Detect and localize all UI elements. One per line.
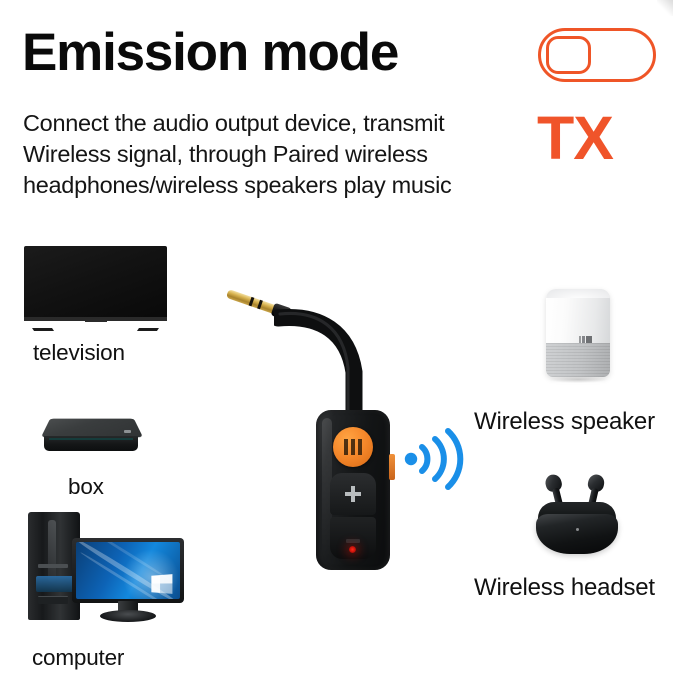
volume-up-button[interactable] <box>330 473 376 515</box>
wireless-earbuds-icon <box>524 472 630 562</box>
page-title: Emission mode <box>22 26 398 79</box>
description-line-1: Connect the audio output device, transmi… <box>23 108 543 139</box>
set-top-box-icon <box>40 412 143 460</box>
label-wireless-speaker: Wireless speaker <box>474 408 655 436</box>
plus-icon <box>345 486 361 502</box>
monitor-bezel <box>72 538 184 603</box>
box-light-strip <box>49 438 133 440</box>
desktop-computer-icon <box>22 508 186 632</box>
wireless-signal-waves-icon <box>402 428 464 490</box>
box-led <box>124 430 131 433</box>
page-description: Connect the audio output device, transmi… <box>23 108 543 201</box>
computer-monitor <box>72 538 184 612</box>
box-top-face <box>41 419 143 438</box>
computer-tower-accent <box>48 520 56 582</box>
monitor-screen <box>76 542 180 599</box>
side-power-button[interactable] <box>389 454 395 480</box>
television-icon <box>24 246 167 328</box>
bluetooth-transmitter-device <box>218 300 398 570</box>
speaker-body <box>546 289 610 377</box>
label-television: television <box>33 340 125 366</box>
charging-case-led <box>576 528 579 531</box>
television-stand <box>85 319 107 322</box>
description-line-2: Wireless signal, through Paired wireless <box>23 139 543 170</box>
speaker-grille <box>546 343 610 377</box>
computer-drive-slot <box>38 564 68 568</box>
toggle-switch-icon[interactable] <box>538 28 656 82</box>
label-box: box <box>68 474 104 500</box>
label-computer: computer <box>32 645 124 671</box>
label-wireless-headset: Wireless headset <box>474 574 655 602</box>
monitor-base <box>100 610 156 622</box>
minus-icon <box>346 539 360 543</box>
corner-artifact <box>657 0 673 16</box>
speaker-top <box>546 289 610 298</box>
toggle-knob <box>546 36 591 74</box>
charging-case-front <box>536 514 618 554</box>
screen-window-logo-icon <box>151 574 172 594</box>
mode-badge-tx: TX <box>537 108 613 169</box>
computer-front-panel <box>36 576 74 592</box>
play-pause-icon <box>344 439 362 455</box>
description-line-3: headphones/wireless speakers play music <box>23 170 543 201</box>
status-led <box>349 546 356 553</box>
speaker-shadow <box>548 376 608 383</box>
device-body <box>316 410 390 570</box>
television-screen <box>24 246 167 320</box>
device-cable <box>274 302 380 424</box>
wireless-speaker-icon <box>542 283 614 383</box>
infographic-page: Emission mode Connect the audio output d… <box>0 0 673 673</box>
computer-lower-bay <box>38 596 68 604</box>
play-pause-button[interactable] <box>333 427 373 467</box>
